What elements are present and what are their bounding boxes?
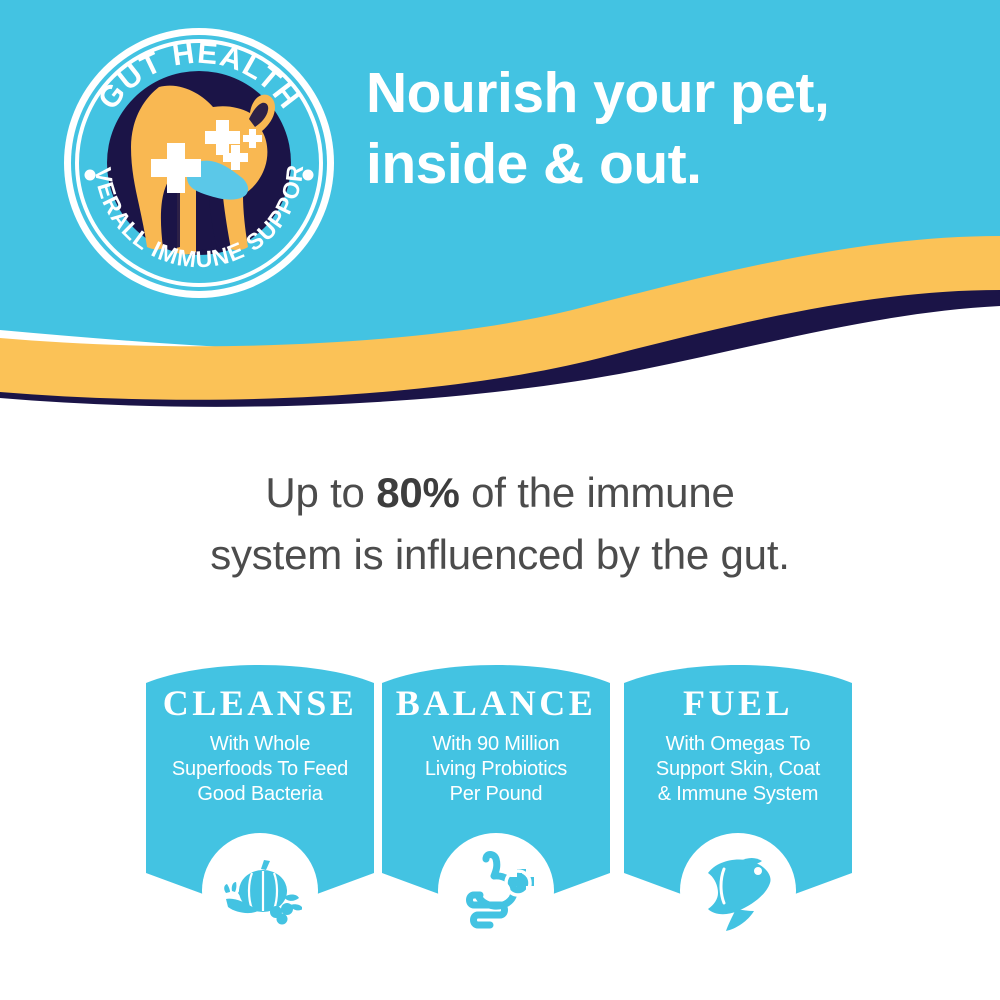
gut-health-badge: GUT HEALTH OVERALL IMMUNE SUPPORT bbox=[63, 27, 335, 299]
stat-prefix: Up to bbox=[265, 469, 376, 516]
stat-statement: Up to 80% of the immune system is influe… bbox=[100, 462, 900, 585]
icon-circle-cleanse bbox=[202, 833, 318, 949]
fish-icon bbox=[696, 851, 780, 931]
headline-line-1: Nourish your pet, bbox=[366, 61, 829, 125]
benefit-card-fuel[interactable]: FUEL With Omegas To Support Skin, Coat &… bbox=[624, 655, 852, 955]
stat-line-1: Up to 80% of the immune bbox=[100, 462, 900, 524]
icon-circle-balance bbox=[438, 833, 554, 949]
headline-line-2: inside & out. bbox=[366, 129, 966, 200]
stomach-intestine-plus-icon bbox=[456, 849, 536, 933]
benefit-card-balance[interactable]: BALANCE With 90 Million Living Probiotic… bbox=[382, 655, 610, 955]
benefit-cards: CLEANSE With Whole Superfoods To Feed Go… bbox=[0, 655, 1000, 955]
pumpkin-carrot-berries-icon bbox=[218, 849, 302, 933]
benefit-card-cleanse[interactable]: CLEANSE With Whole Superfoods To Feed Go… bbox=[146, 655, 374, 955]
stat-line-2: system is influenced by the gut. bbox=[100, 524, 900, 586]
stat-suffix: of the immune bbox=[460, 469, 735, 516]
icon-circle-fuel bbox=[680, 833, 796, 949]
infographic-canvas: GUT HEALTH OVERALL IMMUNE SUPPORT Nouris… bbox=[0, 0, 1000, 1000]
stat-value: 80% bbox=[376, 469, 459, 516]
page-title: Nourish your pet, inside & out. bbox=[366, 58, 966, 199]
hero-section: GUT HEALTH OVERALL IMMUNE SUPPORT Nouris… bbox=[0, 0, 1000, 420]
